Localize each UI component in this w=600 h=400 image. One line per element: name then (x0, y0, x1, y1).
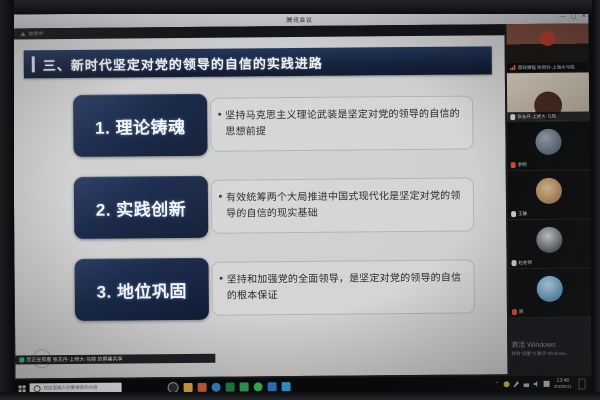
avatar (535, 129, 561, 155)
slide-point-label: 1. 理论铸魂 (95, 113, 186, 139)
slide-row: 2. 实践创新 有效统筹两个大局推进中国式现代化是坚定对党的领导的自信的现实基础 (74, 173, 475, 238)
video-tile-name: 张志丹·上师大·马院 (517, 113, 556, 119)
meeting-window-title: 腾讯会议 (286, 14, 312, 23)
video-tile-caption: 赵老师 (512, 260, 533, 266)
signal-icon (510, 65, 516, 70)
monitor-screen: 腾讯会议 放映中 三、新时代坚定对党的领导的自信的实践进路 1. 理论铸魂 (10, 9, 591, 396)
clock-date: 2023/5/11 (554, 384, 572, 390)
network-icon[interactable] (523, 381, 529, 387)
video-tile[interactable]: 张志丹·上师大·马院 (507, 72, 589, 122)
file-explorer-icon[interactable] (184, 382, 193, 391)
screen-share-banner: 您正在观看 张志丹·上师大·马院 的屏幕共享 (15, 354, 215, 365)
slide-point-chip: 1. 理论铸魂 (73, 94, 208, 157)
microphone-muted-icon (511, 162, 516, 168)
search-icon (34, 385, 41, 392)
slide-point-note-text: 坚持马克思主义理论武装是坚定对党的领导的自信的思想前提 (225, 107, 466, 141)
security-icon[interactable] (503, 381, 509, 387)
avatar (537, 276, 563, 302)
screen-share-text: 您正在观看 张志丹·上师大·马院 的屏幕共享 (26, 356, 122, 364)
slide-row: 3. 地位巩固 坚持和加强党的全面领导，是坚定对党的领导的自信的根本保证 (74, 255, 475, 320)
tencent-meeting-window: 腾讯会议 放映中 三、新时代坚定对党的领导的自信的实践进路 1. 理论铸魂 (10, 9, 591, 380)
slide-point-chip: 2. 实践创新 (74, 176, 209, 239)
volume-icon[interactable] (533, 381, 539, 387)
bullet-icon (218, 113, 221, 116)
video-tile-caption: 思政课程 协同办·上海大马院 (507, 62, 589, 72)
video-tile-name: 思政课程 协同办·上海大马院 (518, 64, 575, 70)
video-tile[interactable]: 思政课程 协同办·上海大马院 (506, 23, 588, 73)
video-tile-name: 李明 (518, 162, 527, 168)
pen-icon[interactable] (513, 381, 519, 387)
video-tile[interactable]: 赵老师 (508, 219, 590, 269)
taskbar-clock[interactable]: 13:46 2023/5/11 (554, 378, 572, 390)
windows-start-icon[interactable] (19, 385, 26, 392)
excel-icon[interactable] (226, 382, 235, 391)
video-tile-name: 王静 (518, 211, 527, 217)
microphone-icon (510, 114, 515, 120)
edge-icon[interactable] (212, 382, 221, 391)
video-tile[interactable]: 王静 (508, 170, 590, 220)
slide-point-note: 坚持和加强党的全面领导，是坚定对党的领导的自信的根本保证 (212, 259, 475, 315)
slide-point-note-text: 有效统筹两个大局推进中国式现代化是坚定对党的领导的自信的现实基础 (226, 189, 467, 223)
taskbar-pinned-apps[interactable] (168, 381, 291, 393)
cortana-icon[interactable] (168, 382, 179, 393)
meeting-icon[interactable] (268, 382, 277, 391)
video-tile-name: 赵老师 (519, 260, 533, 266)
slide-point-chip: 3. 地位巩固 (74, 258, 209, 321)
slide-title-banner: 三、新时代坚定对党的领导的自信的实践进路 (24, 46, 492, 78)
slide-point-label: 2. 实践创新 (96, 195, 187, 221)
store-icon[interactable] (198, 382, 207, 391)
video-tile[interactable]: 李明 (507, 121, 589, 171)
slide-point-note-text: 坚持和加强党的全面领导，是坚定对党的领导的自信的根本保证 (227, 271, 468, 305)
search-placeholder: 在这里输入你要搜索的内容 (44, 385, 98, 391)
avatar (536, 227, 562, 253)
shared-screen-area: 放映中 三、新时代坚定对党的领导的自信的实践进路 1. 理论铸魂 坚持马克思主 (12, 24, 507, 378)
wechat-icon[interactable] (254, 382, 263, 391)
microphone-icon (512, 260, 517, 266)
screen-share-icon (19, 357, 24, 362)
photographed-monitor: 腾讯会议 放映中 三、新时代坚定对党的领导的自信的实践进路 1. 理论铸魂 (0, 0, 600, 400)
video-tile-caption: 王静 (511, 211, 527, 217)
presentation-status-label: 放映中 (28, 30, 43, 37)
bullet-icon (220, 277, 223, 280)
participant-video-strip[interactable]: — ▢ ✕ 思政课程 协同办·上海大马院 张志丹·上师大·马院 (506, 23, 591, 376)
slide-canvas: 三、新时代坚定对党的领导的自信的实践进路 1. 理论铸魂 坚持马克思主义理论武装… (13, 35, 508, 378)
video-tile-name: 陈 (519, 309, 524, 315)
monitor-bezel-left (0, 0, 14, 400)
avatar (536, 178, 562, 204)
show-desktop-button[interactable] (579, 378, 586, 389)
tim-icon[interactable] (282, 382, 291, 391)
slide-title: 三、新时代坚定对党的领导的自信的实践进路 (43, 52, 323, 73)
slide-point-note: 坚持马克思主义理论武装是坚定对党的领导的自信的思想前提 (210, 95, 473, 151)
video-tile-caption: 陈 (512, 309, 524, 315)
chevron-up-icon[interactable]: ⌃ (495, 381, 499, 387)
monitor-bezel-bottom (0, 392, 600, 400)
monitor-bezel-right (592, 0, 600, 400)
slide-title-accent (32, 56, 35, 72)
slide-row: 1. 理论铸魂 坚持马克思主义理论武装是坚定对党的领导的自信的思想前提 (73, 91, 474, 156)
presentation-play-icon (20, 32, 25, 36)
powerpoint-icon[interactable] (240, 382, 249, 391)
video-tile-caption: 张志丹·上师大·马院 (507, 111, 589, 121)
video-tile-caption: 李明 (511, 162, 527, 168)
slide-point-note: 有效统筹两个大局推进中国式现代化是坚定对党的领导的自信的现实基础 (211, 177, 474, 233)
monitor-bezel-top (0, 0, 600, 14)
bullet-icon (219, 195, 222, 198)
microphone-icon (511, 211, 516, 217)
microphone-muted-icon (512, 309, 517, 315)
system-tray[interactable]: ⌃ 13:46 2023/5/11 (495, 377, 592, 390)
battery-icon[interactable] (543, 381, 549, 387)
video-tile[interactable]: 陈 (509, 268, 591, 318)
slide-point-label: 3. 地位巩固 (96, 276, 187, 302)
